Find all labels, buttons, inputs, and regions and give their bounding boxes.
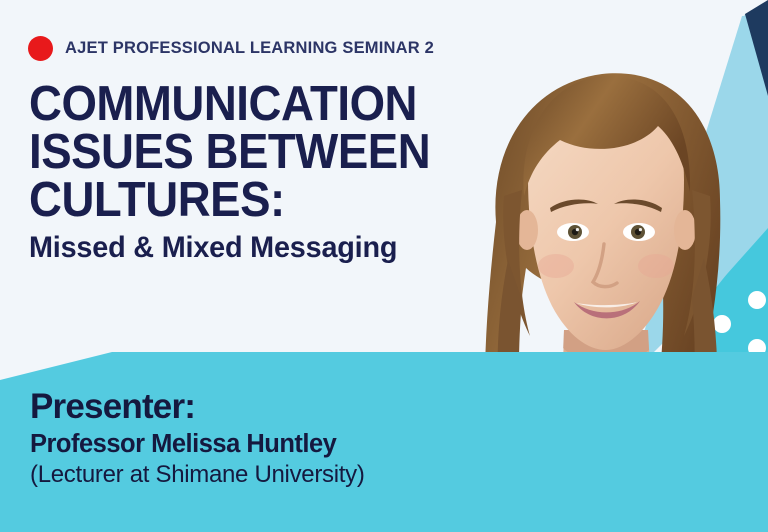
presenter-label: Presenter: [30,388,450,426]
eye-right [623,223,655,241]
ear-right [674,210,696,250]
cheek-right [638,254,674,278]
kicker: AJET PROFESSIONAL LEARNING SEMINAR 2 [28,36,434,61]
headline-line-2: ISSUES BETWEEN [29,128,466,176]
headline-line-1: COMMUNICATION [29,80,466,128]
headline-block: COMMUNICATION ISSUES BETWEEN CULTURES: M… [29,80,499,265]
presenter-name: Professor Melissa Huntley [30,429,450,459]
presenter-block: Presenter: Professor Melissa Huntley (Le… [30,388,450,489]
eye-left [557,223,589,241]
headline-line-3: CULTURES: [29,176,466,224]
presenter-affiliation: (Lecturer at Shimane University) [30,460,450,489]
red-circle-bullet-icon [28,36,53,61]
seminar-poster: AJET PROFESSIONAL LEARNING SEMINAR 2 COM… [0,0,768,532]
kicker-text: AJET PROFESSIONAL LEARNING SEMINAR 2 [65,39,434,58]
cheek-left [538,254,574,278]
headline-subtitle: Missed & Mixed Messaging [29,231,480,265]
